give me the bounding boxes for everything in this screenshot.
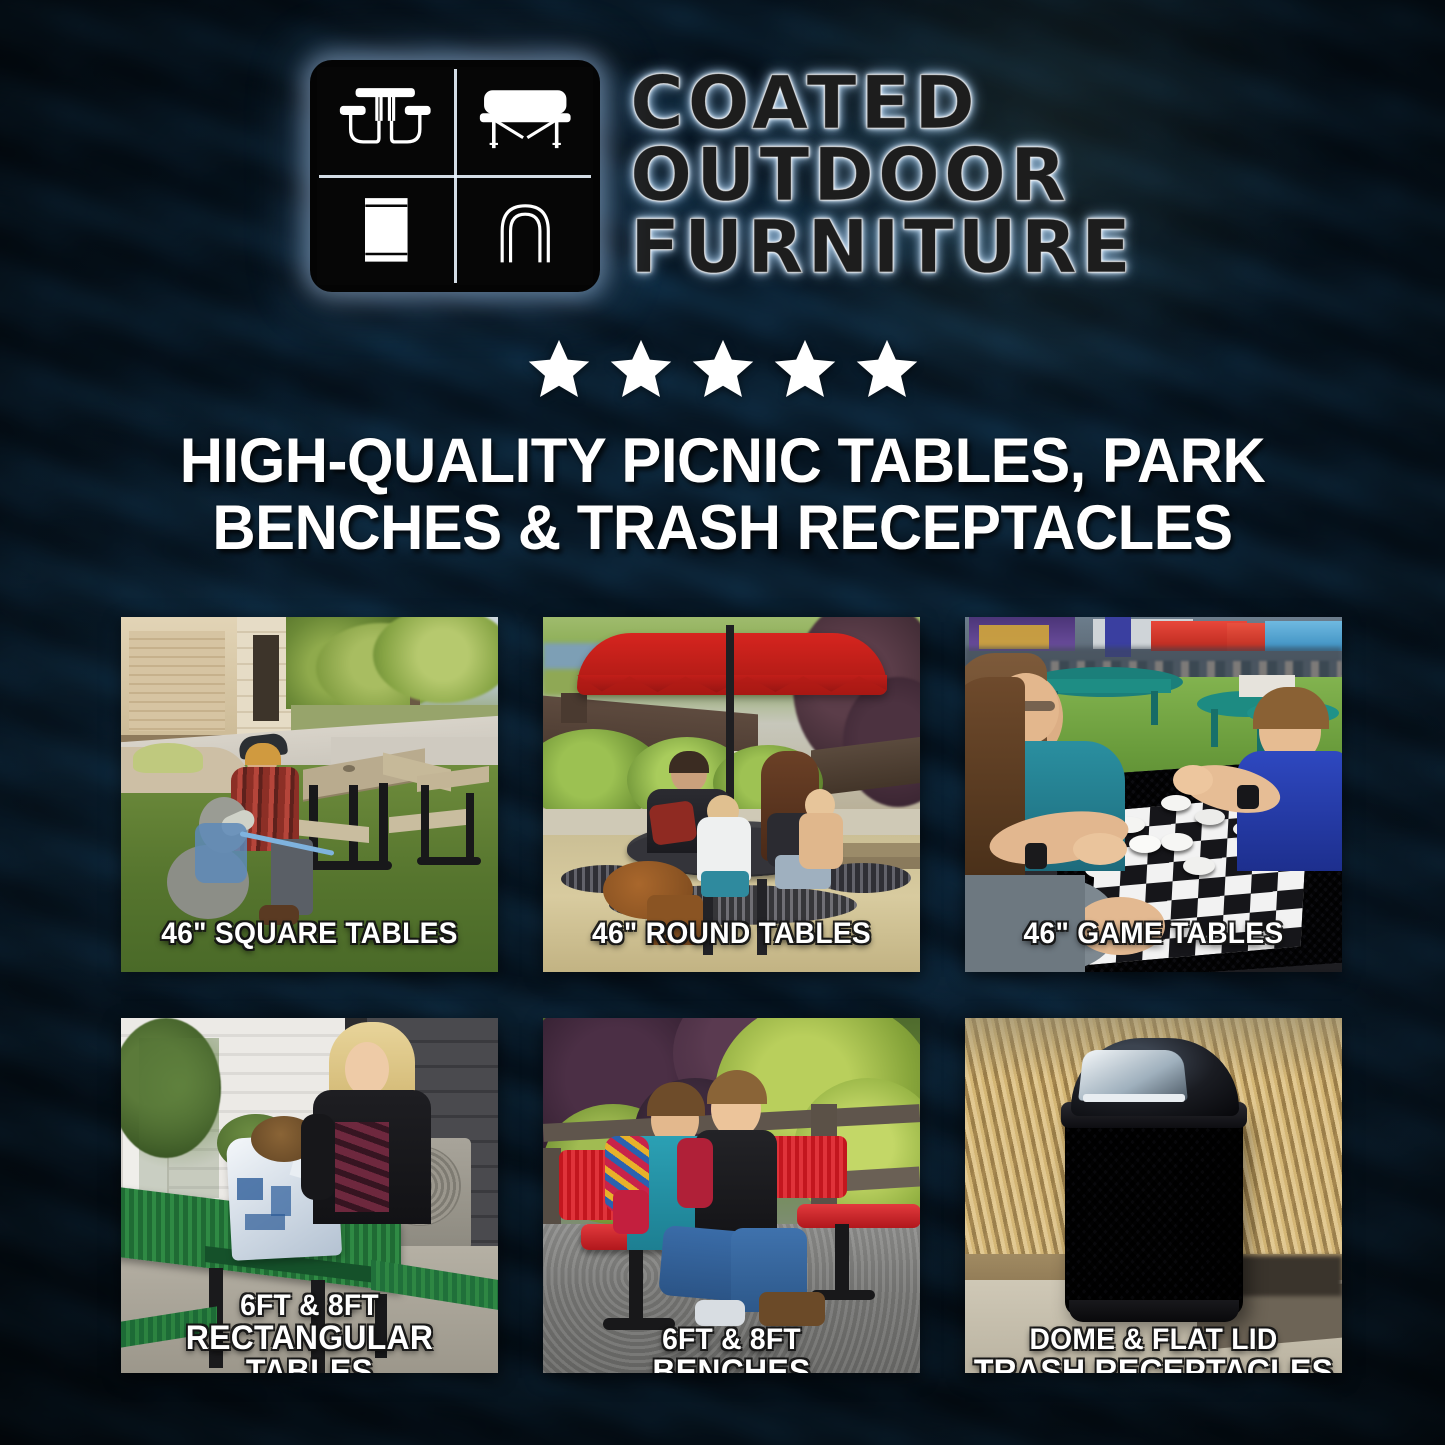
headline-line-1: HIGH-QUALITY PICNIC TABLES, PARK: [93, 428, 1352, 495]
star-icon: [608, 336, 674, 402]
product-card-trash-receptacles[interactable]: DOME & FLAT LID TRASH RECEPTACLES: [965, 1018, 1342, 1373]
brand-line-3: FURNITURE: [630, 213, 1135, 283]
brand-line-1: COATED: [630, 69, 1135, 139]
product-photo-trash-receptacles[interactable]: DOME & FLAT LID TRASH RECEPTACLES: [965, 1018, 1342, 1373]
caption-line-1: 46" SQUARE TABLES: [161, 917, 458, 950]
product-caption: 46" ROUND TABLES: [543, 919, 920, 949]
picnic-table-icon: [317, 67, 454, 175]
product-photo-square-tables[interactable]: 46" SQUARE TABLES: [121, 617, 498, 972]
caption-line-2: TRASH RECEPTACLES: [965, 1355, 1342, 1373]
photo-scene: [965, 1018, 1342, 1373]
product-card-benches[interactable]: 6FT & 8FT BENCHES: [543, 1018, 920, 1373]
caption-line-1: 6FT & 8FT: [662, 1323, 801, 1356]
product-caption: DOME & FLAT LID TRASH RECEPTACLES: [965, 1325, 1342, 1373]
product-caption: 6FT & 8FT RECTANGULAR TABLES: [121, 1291, 498, 1373]
star-rating: [0, 336, 1445, 402]
product-photo-game-tables[interactable]: 46" GAME TABLES: [965, 617, 1342, 972]
page-title: HIGH-QUALITY PICNIC TABLES, PARK BENCHES…: [36, 428, 1409, 562]
brand-logo: COATED OUTDOOR FURNITURE: [0, 60, 1445, 292]
star-icon: [690, 336, 756, 402]
product-caption: 6FT & 8FT BENCHES: [543, 1325, 920, 1373]
bench-table-icon: [457, 67, 594, 175]
product-card-rectangular-tables[interactable]: 6FT & 8FT RECTANGULAR TABLES: [121, 1018, 498, 1373]
logo-mark: [310, 60, 600, 292]
headline-line-2: BENCHES & TRASH RECEPTACLES: [93, 495, 1352, 562]
star-icon: [854, 336, 920, 402]
caption-line-1: 46" GAME TABLES: [1024, 917, 1284, 950]
star-icon: [772, 336, 838, 402]
product-card-round-tables[interactable]: 46" ROUND TABLES: [543, 617, 920, 972]
caption-line-2: RECTANGULAR TABLES: [121, 1321, 498, 1373]
caption-line-1: 6FT & 8FT: [240, 1289, 379, 1322]
product-card-square-tables[interactable]: 46" SQUARE TABLES: [121, 617, 498, 972]
product-caption: 46" GAME TABLES: [965, 919, 1342, 949]
caption-line-2: BENCHES: [543, 1355, 920, 1373]
caption-line-1: 46" ROUND TABLES: [592, 917, 871, 950]
product-grid: 46" SQUARE TABLES: [121, 617, 1343, 1373]
brand-wordmark: COATED OUTDOOR FURNITURE: [630, 69, 1135, 283]
product-photo-benches[interactable]: 6FT & 8FT BENCHES: [543, 1018, 920, 1373]
photo-scene: [543, 1018, 920, 1373]
product-photo-round-tables[interactable]: 46" ROUND TABLES: [543, 617, 920, 972]
brand-line-2: OUTDOOR: [630, 141, 1135, 211]
star-icon: [526, 336, 592, 402]
product-photo-rectangular-tables[interactable]: 6FT & 8FT RECTANGULAR TABLES: [121, 1018, 498, 1373]
logo-divider-horizontal: [319, 175, 591, 178]
promo-poster: COATED OUTDOOR FURNITURE HIGH-QUALITY PI…: [0, 0, 1445, 1445]
bike-rack-icon: [457, 178, 594, 286]
caption-line-1: DOME & FLAT LID: [1029, 1323, 1277, 1356]
trash-receptacle-icon: [317, 178, 454, 286]
product-caption: 46" SQUARE TABLES: [121, 919, 498, 949]
product-card-game-tables[interactable]: 46" GAME TABLES: [965, 617, 1342, 972]
